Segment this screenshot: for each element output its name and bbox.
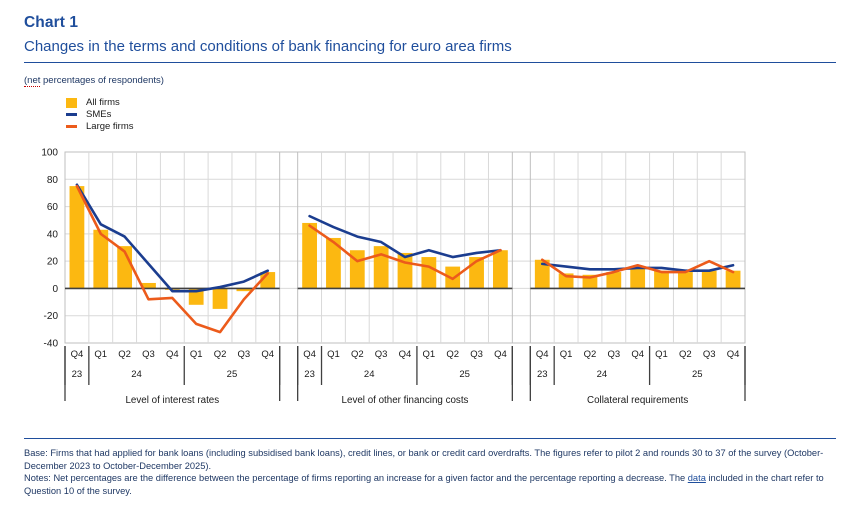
x-axis-quarter-label: Q2 (214, 349, 227, 360)
legend-label-all-firms: All firms (86, 97, 120, 108)
bar (702, 271, 717, 289)
y-axis-tick-label: -40 (44, 339, 59, 350)
y-axis-tick-label: 60 (47, 202, 59, 213)
x-axis-year-label: 23 (537, 369, 548, 380)
legend-swatch-large-firms-icon (66, 125, 77, 128)
footnote-notes-label: Notes: (24, 473, 51, 483)
x-axis-quarter-label: Q4 (71, 349, 84, 360)
x-axis-quarter-label: Q4 (399, 349, 412, 360)
legend-label-large-firms: Large firms (86, 121, 134, 132)
bar (421, 257, 436, 288)
x-axis-quarter-label: Q3 (703, 349, 716, 360)
footnote-notes-text-1: Net percentages are the difference betwe… (51, 473, 688, 483)
x-axis-quarter-label: Q2 (584, 349, 597, 360)
legend-item-large-firms: Large firms (66, 121, 134, 132)
x-axis-year-label: 23 (72, 369, 83, 380)
chart-page: Chart 1 Changes in the terms and conditi… (0, 0, 859, 515)
legend-label-smes: SMEs (86, 109, 111, 120)
x-axis-quarter-label: Q1 (190, 349, 203, 360)
x-axis-quarter-label: Q1 (94, 349, 107, 360)
bar (213, 288, 228, 308)
bar (302, 223, 317, 288)
footnote-base: Base: Firms that had applied for bank lo… (24, 447, 838, 472)
data-link[interactable]: data (688, 473, 706, 483)
x-axis-quarter-label: Q1 (560, 349, 573, 360)
header-divider (24, 62, 836, 63)
x-axis-year-label: 25 (692, 369, 703, 380)
x-axis-quarter-label: Q2 (679, 349, 692, 360)
x-axis-quarter-label: Q3 (142, 349, 155, 360)
x-axis-quarter-label: Q4 (166, 349, 179, 360)
footnote-base-text: Firms that had applied for bank loans (i… (24, 448, 823, 471)
y-axis-tick-label: 100 (41, 148, 58, 159)
bar (678, 272, 693, 288)
x-axis-quarter-label: Q2 (446, 349, 459, 360)
y-axis-tick-label: 80 (47, 175, 59, 186)
legend-item-smes: SMEs (66, 109, 134, 120)
x-axis-year-label: 25 (459, 369, 470, 380)
x-axis-quarter-label: Q1 (327, 349, 340, 360)
x-axis-quarter-label: Q4 (631, 349, 644, 360)
x-axis-quarter-label: Q2 (118, 349, 131, 360)
page-title: Changes in the terms and conditions of b… (24, 38, 836, 55)
x-axis-quarter-label: Q3 (375, 349, 388, 360)
chart-header: Chart 1 Changes in the terms and conditi… (24, 14, 836, 63)
footnote-notes: Notes: Net percentages are the differenc… (24, 472, 838, 497)
chart-plot-area: -40-20020406080100Q4Q1Q2Q3Q4Q1Q2Q3Q42324… (24, 145, 836, 415)
y-axis-tick-label: 40 (47, 229, 59, 240)
legend-item-all-firms: All firms (66, 97, 134, 108)
footnote-base-label: Base: (24, 448, 48, 458)
x-axis-quarter-label: Q2 (351, 349, 364, 360)
legend-swatch-all-firms-icon (66, 98, 77, 108)
x-axis-quarter-label: Q3 (607, 349, 620, 360)
footnote: Base: Firms that had applied for bank lo… (24, 447, 838, 497)
panel-title: Level of other financing costs (342, 395, 469, 406)
bar (374, 246, 389, 288)
x-axis-quarter-label: Q1 (423, 349, 436, 360)
x-axis-quarter-label: Q3 (238, 349, 251, 360)
x-axis-year-label: 24 (131, 369, 142, 380)
units-rest: percentages of respondents) (40, 75, 164, 86)
panel-title: Collateral requirements (587, 395, 688, 406)
plot-frame (65, 152, 745, 343)
chart-number: Chart 1 (24, 14, 836, 32)
x-axis-year-label: 25 (227, 369, 238, 380)
panel-title: Level of interest rates (125, 395, 219, 406)
units-prefix: (net (24, 75, 40, 87)
units-label: (net percentages of respondents) (24, 75, 164, 86)
x-axis-quarter-label: Q4 (536, 349, 549, 360)
x-axis-year-label: 24 (364, 369, 375, 380)
x-axis-quarter-label: Q4 (261, 349, 274, 360)
x-axis-year-label: 23 (304, 369, 315, 380)
y-axis-tick-label: 0 (52, 284, 58, 295)
x-axis-year-label: 24 (597, 369, 608, 380)
bar (630, 268, 645, 288)
bar (493, 250, 508, 288)
x-axis-quarter-label: Q4 (727, 349, 740, 360)
y-axis-tick-label: -20 (44, 311, 59, 322)
x-axis-quarter-label: Q3 (470, 349, 483, 360)
x-axis-quarter-label: Q1 (655, 349, 668, 360)
y-axis-tick-label: 20 (47, 257, 59, 268)
footnote-divider (24, 438, 836, 439)
x-axis-quarter-label: Q4 (494, 349, 507, 360)
legend-swatch-smes-icon (66, 113, 77, 116)
x-axis-quarter-label: Q4 (303, 349, 316, 360)
chart-svg: -40-20020406080100Q4Q1Q2Q3Q4Q1Q2Q3Q42324… (24, 145, 836, 415)
chart-legend: All firms SMEs Large firms (66, 97, 134, 133)
bar (70, 186, 85, 288)
